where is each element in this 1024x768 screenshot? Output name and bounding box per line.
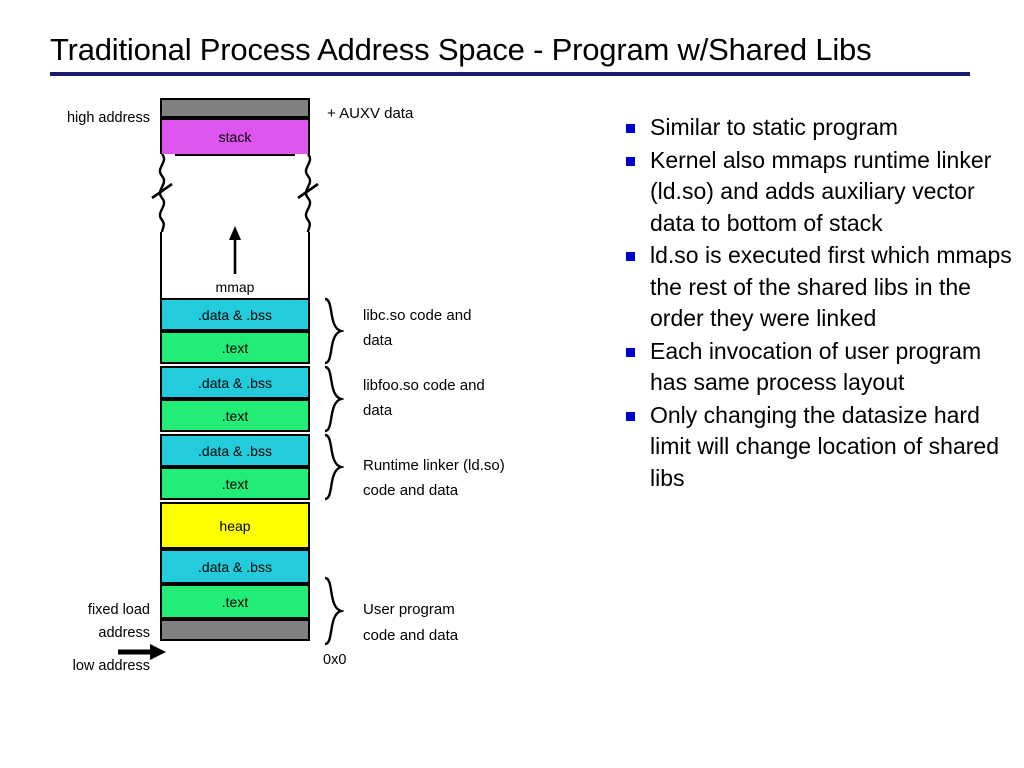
memory-block-userprog-text-label: .text (222, 594, 248, 610)
memory-region-mmap-gap: mmap (160, 156, 310, 298)
ldso-annotation-line2: code and data (363, 479, 458, 503)
fixed-load-address-label-line1: fixed load (30, 600, 150, 620)
libfoo-annotation-line1: libfoo.so code and (363, 374, 485, 398)
brace-userprog-icon (322, 576, 344, 646)
memory-block-userprog-data: .data & .bss (160, 549, 310, 584)
memory-block-libfoo-text-label: .text (222, 408, 248, 424)
brace-libfoo-icon (322, 365, 344, 433)
mmap-arrow-icon (222, 224, 248, 274)
ldso-annotation-line1: Runtime linker (ld.so) (363, 454, 505, 478)
memory-block-ldso-data-label: .data & .bss (198, 443, 272, 459)
high-address-label: high address (30, 108, 150, 128)
bullet-item-3-text: ld.so is executed first which mmaps the … (650, 242, 1012, 331)
memory-block-libc-text: .text (160, 331, 310, 364)
memory-block-heap: heap (160, 502, 310, 549)
bullet-item-5-text: Only changing the datasize hard limit wi… (650, 402, 999, 491)
bullet-item-4: Each invocation of user program has same… (622, 336, 1014, 399)
libc-annotation-line1: libc.so code and (363, 304, 471, 328)
bullet-item-1-text: Similar to static program (650, 114, 898, 140)
memory-block-libfoo-data-label: .data & .bss (198, 375, 272, 391)
bullet-marker-icon (626, 157, 635, 166)
memory-block-userprog-data-label: .data & .bss (198, 559, 272, 575)
bullet-marker-icon (626, 412, 635, 421)
userprog-annotation-line2: code and data (363, 624, 458, 648)
memory-block-libc-data: .data & .bss (160, 298, 310, 331)
memory-layout-diagram: stack mmap .data & .bss .text (160, 98, 310, 674)
memory-block-libfoo-data: .data & .bss (160, 366, 310, 399)
bullet-list: Similar to static program Kernel also mm… (622, 112, 1014, 495)
memory-block-userprog-text: .text (160, 584, 310, 619)
zero-address-annotation: 0x0 (323, 648, 346, 672)
userprog-annotation-line1: User program (363, 598, 455, 622)
bullet-item-4-text: Each invocation of user program has same… (650, 338, 981, 396)
brace-ldso-icon (322, 433, 344, 501)
title-underline-rule (50, 72, 970, 76)
memory-block-auxv-band (160, 98, 310, 118)
memory-block-stack-label: stack (219, 129, 252, 145)
libc-annotation-line2: data (363, 329, 392, 353)
auxv-data-annotation: + AUXV data (327, 102, 413, 126)
memory-block-libfoo-text: .text (160, 399, 310, 432)
memory-block-ldso-data: .data & .bss (160, 434, 310, 467)
bullet-marker-icon (626, 348, 635, 357)
break-mark-right-icon (295, 154, 321, 232)
bullet-item-2-text: Kernel also mmaps runtime linker (ld.so)… (650, 147, 991, 236)
bullet-item-5: Only changing the datasize hard limit wi… (622, 400, 1014, 495)
memory-block-libc-data-label: .data & .bss (198, 307, 272, 323)
memory-block-zero-band (160, 619, 310, 641)
bullet-marker-icon (626, 124, 635, 133)
brace-libc-icon (322, 297, 344, 365)
mmap-growth-arrow: mmap (160, 224, 310, 295)
memory-block-libc-text-label: .text (222, 340, 248, 356)
page-title: Traditional Process Address Space - Prog… (50, 32, 970, 68)
memory-block-heap-label: heap (219, 518, 250, 534)
break-mark-left-icon (149, 154, 175, 232)
bullet-item-1: Similar to static program (622, 112, 1014, 144)
memory-block-ldso-text-label: .text (222, 476, 248, 492)
libfoo-annotation-line2: data (363, 399, 392, 423)
mmap-label: mmap (160, 279, 310, 295)
bullet-item-2: Kernel also mmaps runtime linker (ld.so)… (622, 145, 1014, 240)
bullet-marker-icon (626, 252, 635, 261)
memory-block-stack: stack (160, 118, 310, 156)
memory-block-ldso-text: .text (160, 467, 310, 500)
bullet-item-3: ld.so is executed first which mmaps the … (622, 240, 1014, 335)
